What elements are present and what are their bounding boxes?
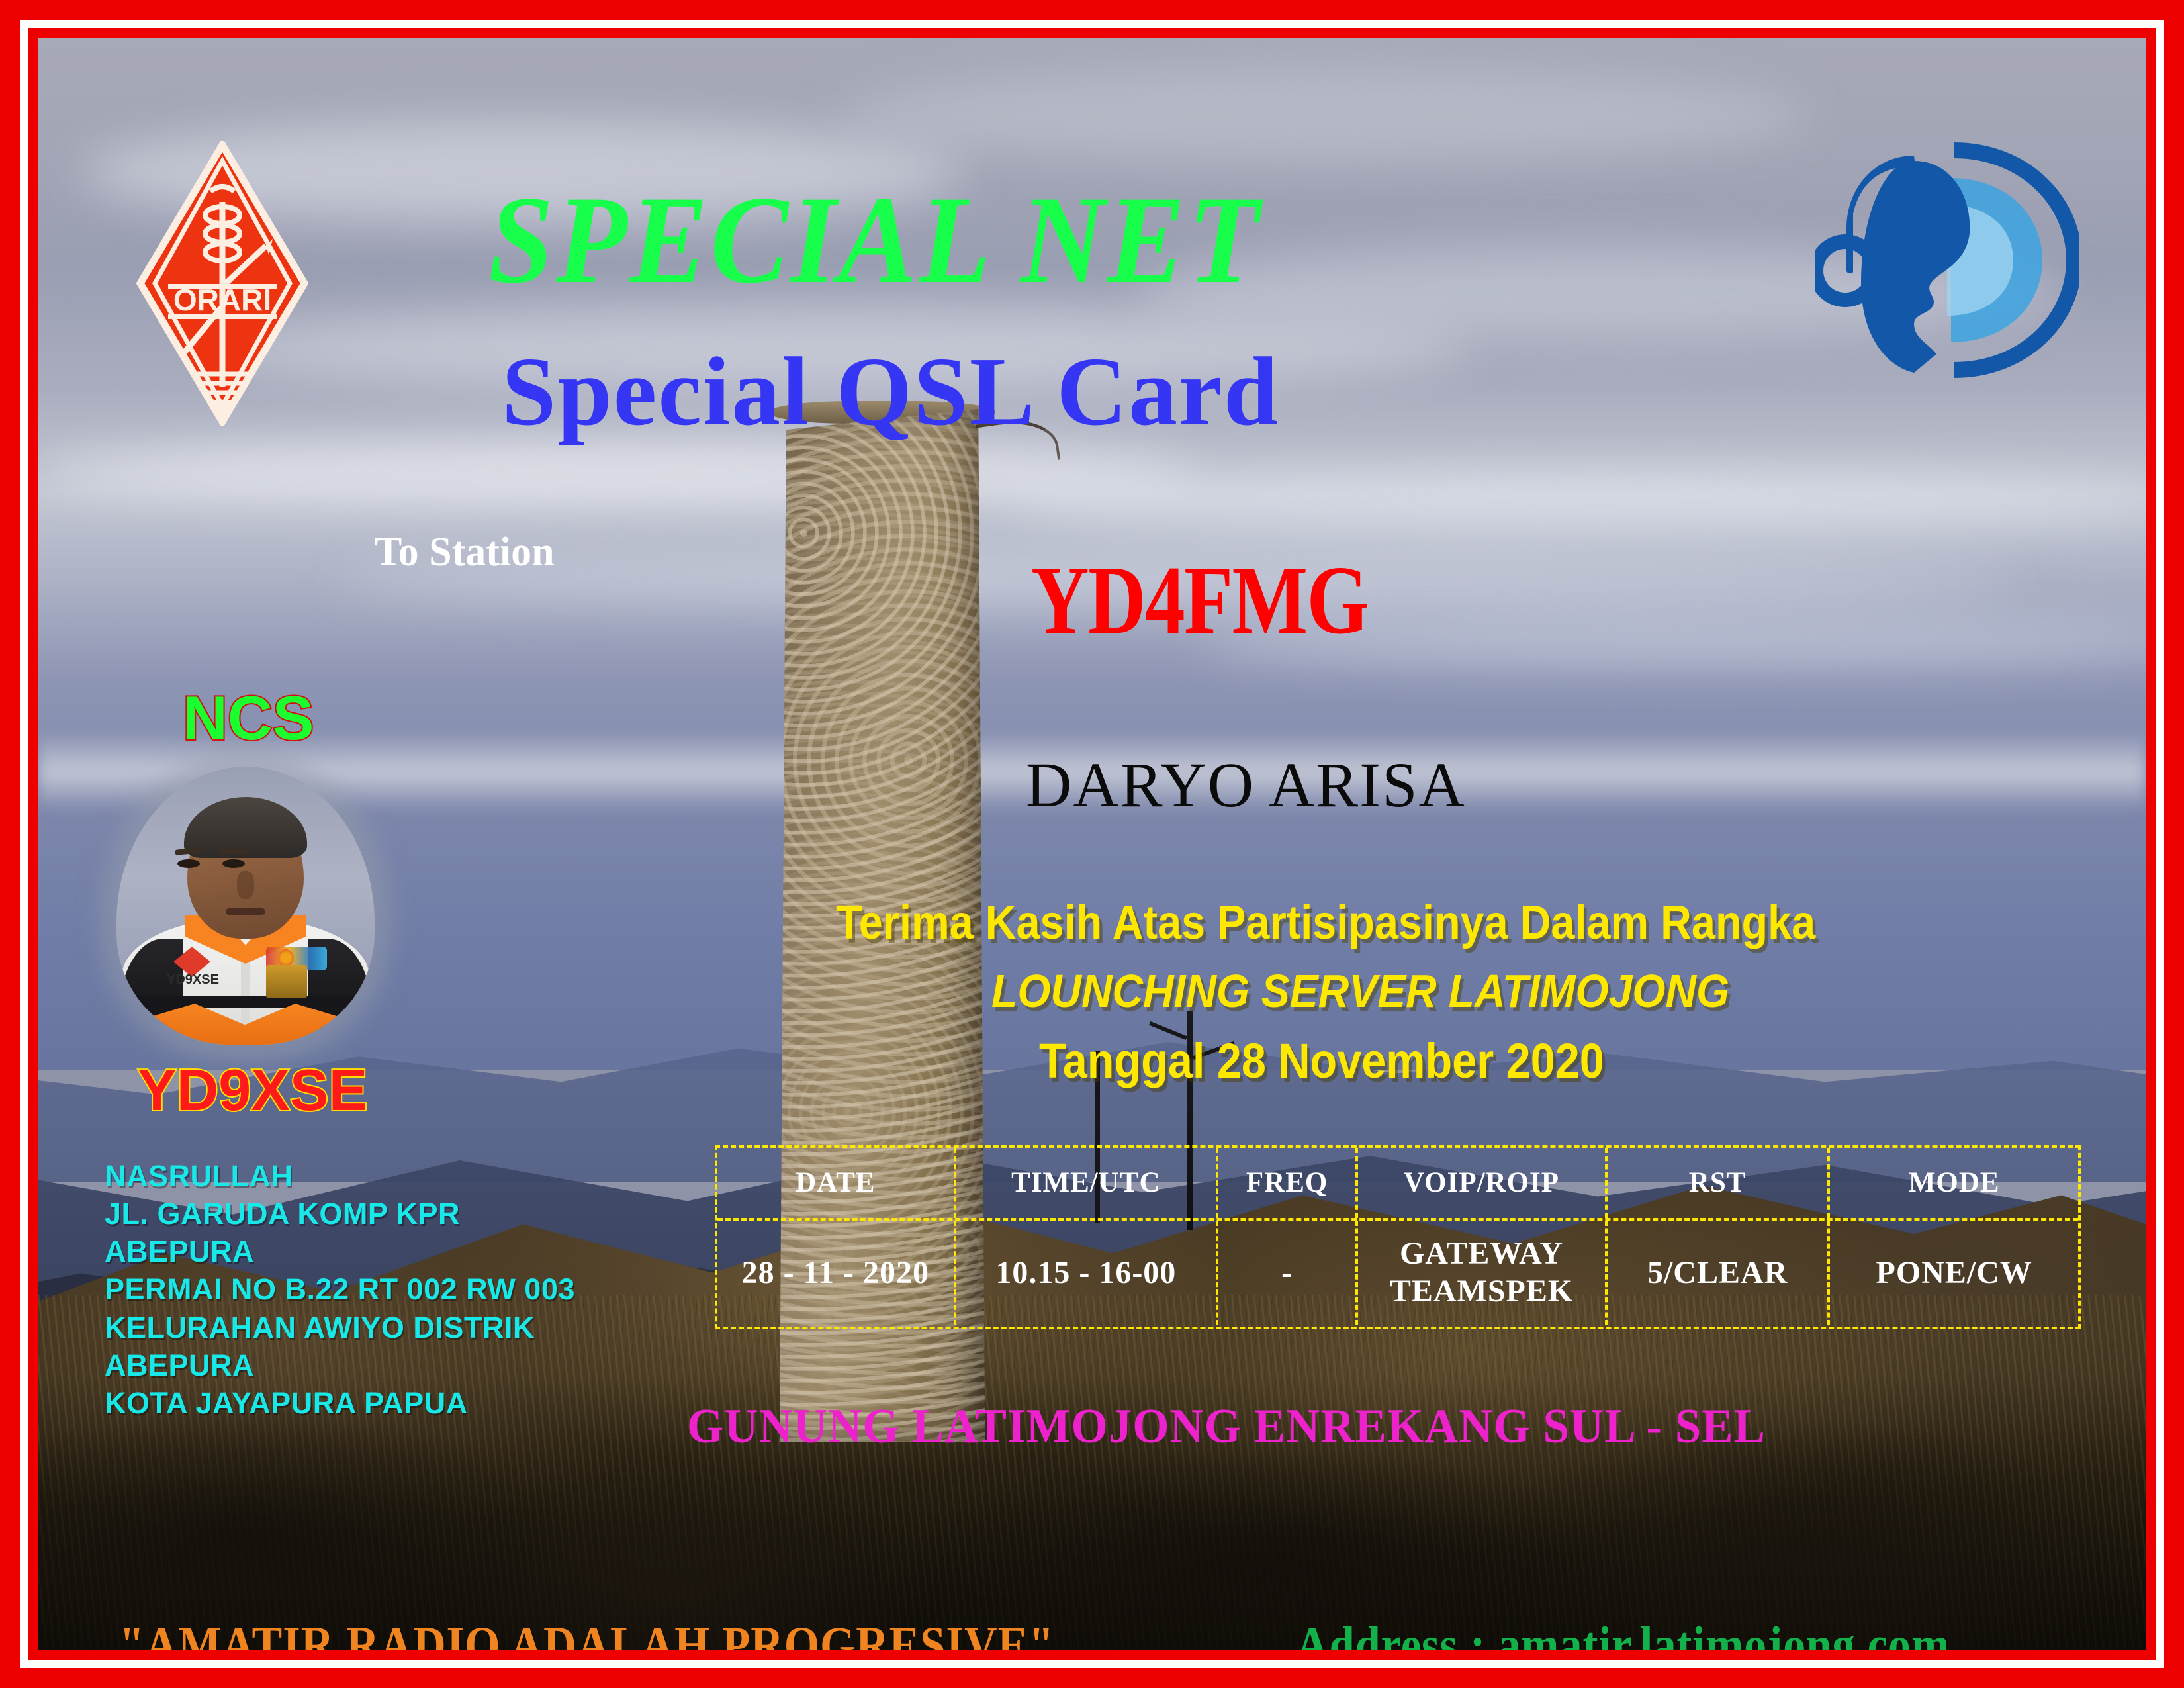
radio-headphone-logo xyxy=(1815,141,2079,379)
event-date: Tanggal 28 November 2020 xyxy=(1039,1037,1604,1086)
card-photo-area: ORARI SPECIAL xyxy=(38,38,2146,1650)
qso-cell-voip-line1: GATEWAY xyxy=(1400,1236,1563,1271)
qso-cell-date: 28 - 11 - 2020 xyxy=(717,1221,956,1325)
station-callsign: YD4FMG xyxy=(1031,551,1368,649)
ncs-callsign: YD9XSE xyxy=(138,1061,367,1119)
qso-cell-mode: PONE/CW xyxy=(1830,1221,2078,1325)
qso-header-rst: RST xyxy=(1608,1148,1831,1218)
qso-header-time: TIME/UTC xyxy=(956,1148,1218,1218)
ncs-address-block: NASRULLAH JL. GARUDA KOMP KPR ABEPURA PE… xyxy=(105,1157,575,1422)
qso-cell-voip-line2: TEAMSPEK xyxy=(1390,1274,1573,1309)
footer-motto: "AMATIR RADIO ADALAH PROGRESIVE" xyxy=(119,1619,1054,1650)
orari-logo-text: ORARI xyxy=(173,283,271,317)
cloud-band xyxy=(1008,471,2146,533)
qso-table-header-row: DATE TIME/UTC FREQ VOIP/ROIP RST MODE xyxy=(717,1148,2078,1218)
qso-cell-freq: - xyxy=(1218,1221,1358,1325)
card-frame-inner-red: ORARI SPECIAL xyxy=(28,28,2156,1660)
thanks-line: Terima Kasih Atas Partisipasinya Dalam R… xyxy=(836,899,1815,947)
address-line: ABEPURA xyxy=(105,1233,575,1270)
portrait-lanyard-clip xyxy=(278,949,294,966)
portrait-id-badge xyxy=(266,965,307,998)
cloud-band xyxy=(839,70,1809,162)
footer-web-address: Address : amatir.latimojong.com xyxy=(1296,1619,1950,1650)
portrait-hair xyxy=(184,797,307,858)
portrait-mouth xyxy=(226,908,265,915)
operator-name: DARYO ARISA xyxy=(1026,753,1466,817)
location-text: GUNUNG LATIMOJONG ENREKANG SUL - SEL xyxy=(687,1402,1766,1451)
qso-cell-time: 10.15 - 16-00 xyxy=(956,1221,1218,1325)
portrait-belt xyxy=(136,996,353,1008)
qso-header-mode: MODE xyxy=(1830,1148,2078,1218)
portrait-shirt-callsign: YD9XSE xyxy=(167,972,219,988)
qso-table: DATE TIME/UTC FREQ VOIP/ROIP RST MODE 28… xyxy=(715,1145,2081,1329)
address-line: JL. GARUDA KOMP KPR xyxy=(105,1195,575,1233)
card-frame-white: ORARI SPECIAL xyxy=(20,20,2164,1668)
qsl-card: ORARI SPECIAL xyxy=(0,0,2184,1688)
event-title: LOUNCHING SERVER LATIMOJONG xyxy=(991,968,1729,1014)
to-station-label: To Station xyxy=(375,532,555,573)
address-line: ABEPURA xyxy=(105,1346,575,1384)
portrait-nose xyxy=(237,871,254,899)
qso-table-row: 28 - 11 - 2020 10.15 - 16-00 - GATEWAY T… xyxy=(717,1218,2078,1325)
address-line: PERMAI NO B.22 RT 002 RW 003 xyxy=(105,1270,575,1308)
address-line: KELURAHAN AWIYO DISTRIK xyxy=(105,1309,575,1346)
page-subtitle: Special QSL Card xyxy=(502,343,1279,441)
address-line: NASRULLAH xyxy=(105,1157,575,1195)
qso-header-voip-roip: VOIP/ROIP xyxy=(1358,1148,1608,1218)
portrait-eye-right xyxy=(222,859,245,868)
orari-diamond-logo: ORARI xyxy=(136,141,308,426)
qso-header-date: DATE xyxy=(717,1148,956,1218)
portrait-eye-left xyxy=(177,859,200,868)
qso-cell-voip-roip: GATEWAY TEAMSPEK xyxy=(1358,1221,1608,1325)
qso-cell-rst: 5/CLEAR xyxy=(1608,1221,1831,1325)
page-title: SPECIAL NET xyxy=(488,177,1261,303)
address-line: KOTA JAYAPURA PAPUA xyxy=(105,1384,575,1422)
ncs-label: NCS xyxy=(183,687,314,749)
qso-header-freq: FREQ xyxy=(1218,1148,1358,1218)
